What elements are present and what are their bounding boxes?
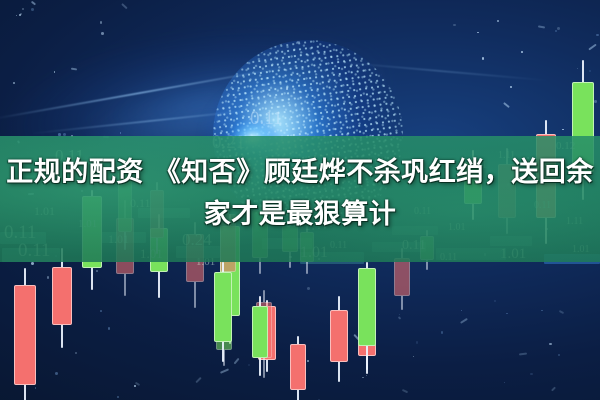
particle-dot (117, 396, 119, 398)
candle-body (290, 344, 306, 390)
candle-body (52, 267, 72, 325)
particle-dot (521, 51, 523, 53)
particle-dot (75, 352, 77, 354)
particle-dot (362, 377, 363, 378)
candlestick-up (214, 262, 232, 362)
headline-line-2: 家才是最狠算计 (0, 194, 600, 236)
particle-dot (594, 100, 597, 103)
candle-body (330, 310, 348, 362)
headline-line-1: 正规的配资 《知否》顾廷烨不杀巩红绡，送回余 (0, 152, 600, 194)
candlestick-up (358, 262, 376, 370)
particle-dot (413, 356, 414, 357)
particle-dot (120, 132, 121, 133)
particle-dot (558, 354, 559, 355)
particle-dot (54, 71, 56, 73)
candlestick-down (52, 248, 72, 348)
particle-dot (22, 8, 24, 10)
candlestick-up (252, 296, 268, 376)
headline: 正规的配资 《知否》顾廷烨不杀巩红绡，送回余 家才是最狠算计 (0, 152, 600, 236)
particle-dot (596, 34, 598, 36)
particle-dot (108, 327, 110, 329)
candlestick-down (290, 336, 306, 400)
particle-dot (541, 310, 543, 312)
particle-dot (441, 331, 444, 334)
particle-dot (494, 300, 496, 302)
candle-body (252, 306, 268, 358)
particle-dot (100, 310, 102, 312)
particle-dot (286, 88, 288, 90)
particle-dot (13, 82, 15, 84)
banner-image: 0.110.210.110.110.111.011.011.010.111.01… (0, 0, 600, 400)
candle-body (214, 272, 232, 342)
candle-body (394, 258, 410, 296)
candlestick-down (14, 268, 36, 400)
candle-body (358, 268, 376, 346)
floating-number: 0.11 (250, 108, 283, 130)
particle-dot (31, 8, 34, 11)
candle-body (14, 285, 36, 385)
particle-dot (482, 57, 484, 59)
candlestick-down (330, 296, 348, 382)
particle-dot (101, 32, 104, 35)
particle-dot (510, 86, 512, 88)
particle-dot (55, 372, 58, 375)
particle-dot (557, 27, 560, 30)
particle-dash (519, 352, 527, 355)
